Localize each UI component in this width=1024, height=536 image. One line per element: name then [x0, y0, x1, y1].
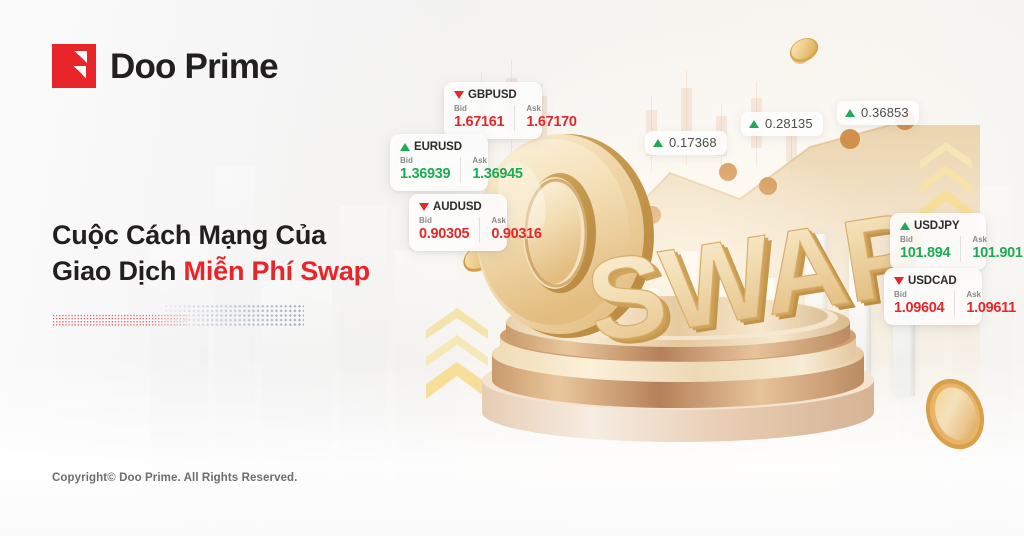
quote-symbol: EURUSD: [414, 141, 462, 153]
trend-up-icon: [653, 139, 663, 147]
bid-label: Bid: [894, 291, 944, 300]
quote-body: Bid 101.894 Ask 101.901: [900, 236, 976, 262]
trend-up-icon: [400, 143, 410, 151]
quote-bid: Bid 1.36939: [400, 157, 450, 183]
brand-name-text: Doo Prime: [110, 47, 278, 86]
quote-header: GBPUSD: [454, 89, 532, 101]
ask-label: Ask: [491, 217, 541, 226]
quote-card-usdjpy[interactable]: USDJPY Bid 101.894 Ask 101.901: [890, 213, 986, 270]
headline-line-2-accent: Miễn Phí Swap: [184, 256, 370, 286]
quote-symbol: AUDUSD: [433, 201, 482, 213]
quote-symbol: USDJPY: [914, 220, 959, 232]
quote-ask: Ask 101.901: [960, 236, 1022, 262]
quote-card-audusd[interactable]: AUDUSD Bid 0.90305 Ask 0.90316: [409, 194, 507, 251]
quote-card-usdcad[interactable]: USDCAD Bid 1.09604 Ask 1.09611: [884, 268, 982, 325]
quote-body: Bid 1.36939 Ask 1.36945: [400, 157, 478, 183]
quote-header: EURUSD: [400, 141, 478, 153]
bid-value: 1.67161: [454, 115, 504, 131]
page-title: Cuộc Cách Mạng Của Giao Dịch Miễn Phí Sw…: [52, 218, 370, 290]
ask-value: 101.901: [972, 246, 1022, 262]
quote-header: USDCAD: [894, 275, 972, 287]
quote-body: Bid 1.09604 Ask 1.09611: [894, 291, 972, 317]
bid-value: 1.09604: [894, 301, 944, 317]
value-badge-text: 0.28135: [765, 116, 813, 131]
promo-banner: SWAP SWAP SWAP Doo Prime Cuộc Cách Mạng …: [0, 0, 1024, 536]
quote-header: AUDUSD: [419, 201, 497, 213]
doo-prime-mark-icon: [52, 44, 96, 88]
bid-value: 0.90305: [419, 227, 469, 243]
trend-up-icon: [900, 222, 910, 230]
halftone-gray-band: [164, 304, 304, 326]
ask-label: Ask: [966, 291, 1016, 300]
ask-value: 1.67170: [526, 115, 576, 131]
trend-up-icon: [845, 109, 855, 117]
ask-value: 0.90316: [491, 227, 541, 243]
quote-ask: Ask 1.09611: [954, 291, 1016, 317]
trend-down-icon: [419, 203, 429, 211]
bid-label: Bid: [400, 157, 450, 166]
ask-label: Ask: [472, 157, 522, 166]
gold-coin-icon: [786, 32, 822, 68]
trend-up-icon: [749, 120, 759, 128]
trend-down-icon: [894, 277, 904, 285]
bid-label: Bid: [419, 217, 469, 226]
quote-body: Bid 0.90305 Ask 0.90316: [419, 217, 497, 243]
copyright-text: Copyright© Doo Prime. All Rights Reserve…: [52, 472, 297, 484]
quote-bid: Bid 1.09604: [894, 291, 944, 317]
brand-logo[interactable]: Doo Prime: [52, 44, 278, 88]
quote-symbol: GBPUSD: [468, 89, 517, 101]
quote-body: Bid 1.67161 Ask 1.67170: [454, 105, 532, 131]
ask-value: 1.09611: [966, 301, 1016, 317]
quote-ask: Ask 1.36945: [460, 157, 522, 183]
ask-value: 1.36945: [472, 167, 522, 183]
ask-label: Ask: [972, 236, 1022, 245]
bid-label: Bid: [454, 105, 504, 114]
value-badge-text: 0.36853: [861, 105, 909, 120]
quote-header: USDJPY: [900, 220, 976, 232]
quote-bid: Bid 0.90305: [419, 217, 469, 243]
quote-bid: Bid 1.67161: [454, 105, 504, 131]
quote-card-eurusd[interactable]: EURUSD Bid 1.36939 Ask 1.36945: [390, 134, 488, 191]
bid-value: 101.894: [900, 246, 950, 262]
brand-name: Doo Prime: [110, 49, 278, 84]
value-badge-3[interactable]: 0.36853: [837, 101, 919, 125]
value-badge-1[interactable]: 0.17368: [645, 131, 727, 155]
quote-ask: Ask 1.67170: [514, 105, 576, 131]
halftone-divider: [52, 304, 302, 330]
headline-line-2-plain: Giao Dịch: [52, 256, 184, 286]
hero-zero-swap-graphic: SWAP SWAP SWAP: [460, 130, 930, 420]
headline-line-1: Cuộc Cách Mạng Của: [52, 218, 370, 254]
ask-label: Ask: [526, 105, 576, 114]
quote-card-gbpusd[interactable]: GBPUSD Bid 1.67161 Ask 1.67170: [444, 82, 542, 139]
bid-label: Bid: [900, 236, 950, 245]
quote-bid: Bid 101.894: [900, 236, 950, 262]
headline-line-2: Giao Dịch Miễn Phí Swap: [52, 254, 370, 290]
quote-ask: Ask 0.90316: [479, 217, 541, 243]
bid-value: 1.36939: [400, 167, 450, 183]
value-badge-2[interactable]: 0.28135: [741, 112, 823, 136]
trend-down-icon: [454, 91, 464, 99]
value-badge-text: 0.17368: [669, 135, 717, 150]
quote-symbol: USDCAD: [908, 275, 957, 287]
